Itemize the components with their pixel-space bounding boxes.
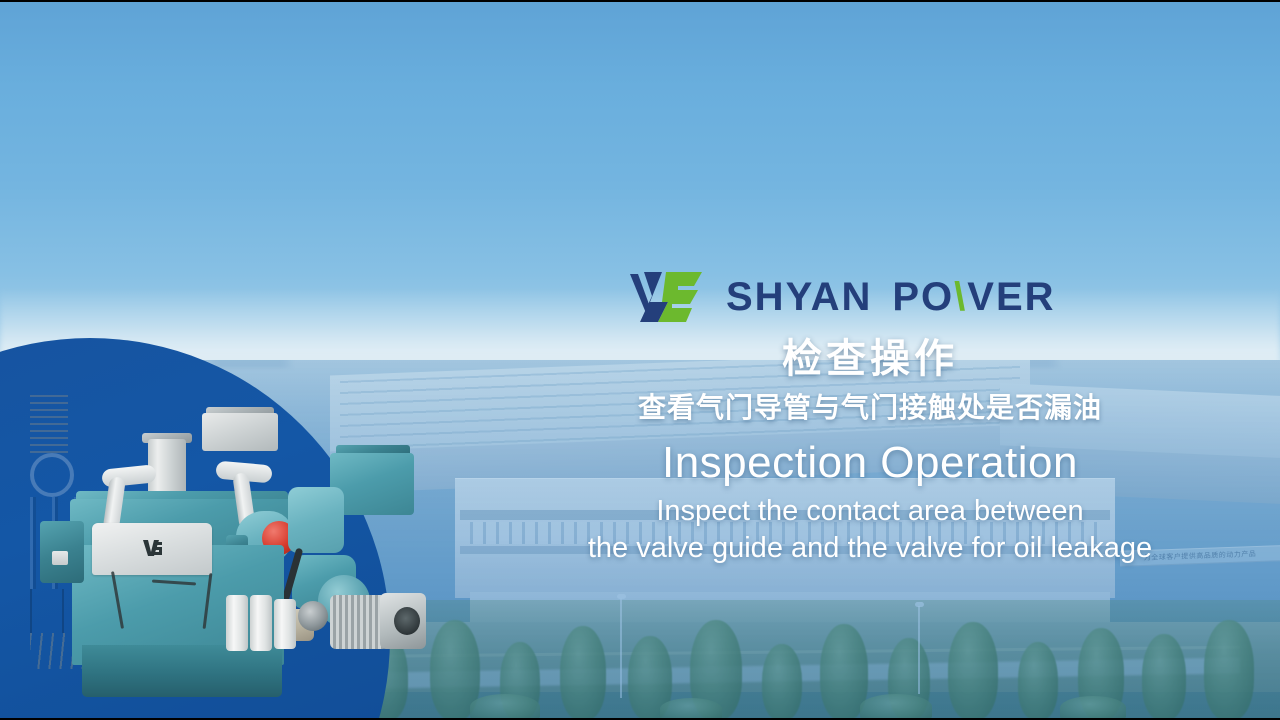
chinese-title: 检查操作 <box>520 336 1220 383</box>
marine-diesel-engine-image <box>30 395 420 720</box>
gear-housing-upper <box>288 487 344 553</box>
video-frame: 为全球客户提供高品质的动力产品 <box>0 0 1280 720</box>
oil-pan <box>82 645 282 697</box>
brand-name-slash: \ <box>954 277 967 317</box>
english-title: Inspection Operation <box>520 439 1220 487</box>
shyan-power-logo-mark-icon <box>628 268 712 326</box>
caption-overlay: 检查操作 查看气门导管与气门接触处是否漏油 Inspection Operati… <box>520 336 1220 567</box>
oil-filter <box>274 599 296 649</box>
brand-logo: SHYAN PO \ VER <box>628 268 1056 326</box>
brand-name-ver: VER <box>967 277 1055 317</box>
english-subtitle: Inspect the contact area between the val… <box>520 493 1220 567</box>
shyan-logo-badge-icon <box>140 535 166 561</box>
letterbox-top <box>0 0 1280 2</box>
brand-name-po: PO <box>892 277 954 317</box>
brand-name-shyan: SHYAN <box>726 277 872 317</box>
gear-housing-ring <box>30 453 74 497</box>
engine-ecu-box <box>202 413 278 451</box>
english-subtitle-line-2: the valve guide and the valve for oil le… <box>520 530 1220 567</box>
air-intake-fins <box>30 395 68 453</box>
oil-filter <box>226 595 248 651</box>
output-flange-bore <box>394 607 420 635</box>
belt-pulley <box>298 601 328 631</box>
english-subtitle-line-1: Inspect the contact area between <box>520 493 1220 530</box>
engine-end-nameplate <box>52 551 68 565</box>
oil-filter <box>250 595 272 651</box>
chinese-subtitle: 查看气门导管与气门接触处是否漏油 <box>520 391 1220 425</box>
brand-wordmark: SHYAN PO \ VER <box>726 277 1056 317</box>
